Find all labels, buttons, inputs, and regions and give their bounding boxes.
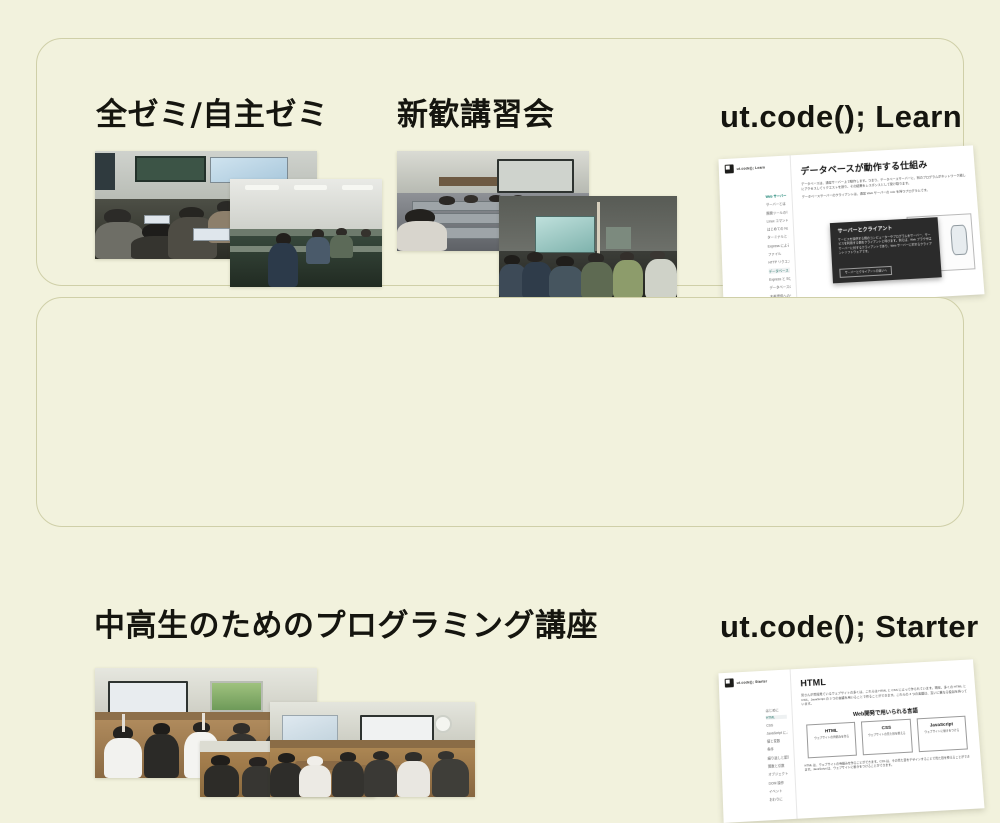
nav-item[interactable]: はじめに bbox=[766, 707, 787, 713]
language-desc: ウェブサイトに動きをつける bbox=[920, 729, 963, 735]
photo-chuko-group-work-right bbox=[270, 702, 475, 797]
nav-item-active[interactable]: データベース bbox=[769, 267, 791, 273]
nav-item[interactable]: DOM 操作 bbox=[769, 779, 791, 785]
deck-learn-body: データベースは、通常サーバー上で動作します。つまり、データベースサーバーに、別の… bbox=[801, 173, 968, 200]
nav-item[interactable]: Express と SQL の接続 bbox=[769, 276, 791, 282]
nav-item[interactable]: Express による Web サーバー構築 bbox=[768, 242, 790, 248]
activities-card-row-1: 全ゼミ/自主ゼミ 新歓講習会 ut.code(); Learn ut.code(… bbox=[36, 38, 964, 286]
language-box: HTML ウェブサイトの骨組みを作る bbox=[806, 722, 857, 759]
deck-learn-content: データベースが動作する仕組み データベースは、通常サーバー上で動作します。つまり… bbox=[790, 145, 985, 304]
deck-ut-code-starter: ut.code(); Starter はじめに HTML CSS JavaScr… bbox=[719, 659, 985, 823]
nav-item[interactable]: HTTP リクエストとレスポンス bbox=[768, 259, 790, 265]
deck-learn-logo: ut.code(); Learn bbox=[725, 163, 766, 174]
activities-card-row-2: 中高生のためのプログラミング講座 ut.code(); Starter ut.c… bbox=[36, 297, 964, 527]
slide-root: 全ゼミ/自主ゼミ 新歓講習会 ut.code(); Learn ut.code(… bbox=[0, 0, 1000, 563]
language-name: CSS bbox=[865, 724, 908, 731]
heading-zemi: 全ゼミ/自主ゼミ bbox=[96, 100, 328, 131]
nav-item[interactable]: データベースのバックアップ bbox=[769, 284, 791, 290]
language-name: JavaScript bbox=[920, 721, 963, 728]
nav-item[interactable]: Web サーバーと静的サイトの公開 bbox=[766, 193, 787, 199]
deck-starter-nav: はじめに HTML CSS JavaScript にふれてみる 値と変数 条件 … bbox=[726, 707, 791, 808]
photo-shinkan-projector-room bbox=[499, 196, 677, 298]
nav-item[interactable]: 条件 bbox=[767, 746, 788, 752]
deck-learn-overlay-card: サーバーとクライアント サービスを提供する側のコンピューターやプログラムをサーバ… bbox=[830, 217, 942, 283]
ut-code-logo-icon bbox=[725, 678, 734, 687]
photo-zemi-lecture-hall-seats bbox=[230, 179, 382, 287]
deck-starter-body: 皆さんが普段見ているウェブサイトの多くは、これらは HTML と CSS によっ… bbox=[801, 684, 968, 707]
heading-shinkan: 新歓講習会 bbox=[397, 100, 555, 131]
nav-item[interactable]: サーバーとは bbox=[766, 201, 787, 207]
nav-item[interactable]: おわりに bbox=[769, 796, 791, 802]
overlay-body: サービスを提供する側のコンピューターやプログラムをサーバー、サービスを利用する側… bbox=[838, 232, 933, 255]
deck-learn-nav: Web サーバーと静的サイトの公開 サーバーとは 開発ツールのセットアップ (W… bbox=[726, 193, 792, 305]
deck-starter-logo-text: ut.code(); Starter bbox=[737, 679, 768, 685]
heading-ut-code-starter: ut.code(); Starter bbox=[720, 611, 979, 642]
deck-learn-sidebar: ut.code(); Learn Web サーバーと静的サイトの公開 サーバーと… bbox=[719, 155, 798, 309]
paragraph: 皆さんが普段見ているウェブサイトの多くは、これらは HTML と CSS によっ… bbox=[801, 684, 968, 707]
language-box-row: HTML ウェブサイトの骨組みを作る CSS ウェブサイトの見た目を整える Ja… bbox=[802, 715, 971, 758]
nav-item[interactable]: 値と変数 bbox=[767, 738, 788, 744]
nav-item[interactable]: Linux コマンド bbox=[767, 217, 788, 223]
deck-ut-code-learn: ut.code(); Learn Web サーバーと静的サイトの公開 サーバーと… bbox=[719, 145, 985, 309]
language-desc: ウェブサイトの骨組みを作る bbox=[810, 735, 853, 741]
heading-chuko-programming-course: 中高生のためのプログラミング講座 bbox=[94, 611, 598, 642]
language-box: CSS ウェブサイトの見た目を整える bbox=[861, 719, 912, 756]
language-name: HTML bbox=[810, 727, 853, 734]
overlay-button[interactable]: サーバーとクライアントの違いへ bbox=[840, 265, 893, 277]
nav-item[interactable]: JavaScript にふれてみる bbox=[766, 729, 787, 735]
nav-item[interactable]: ターミナルと npm bbox=[767, 234, 788, 240]
nav-item[interactable]: 開発ツールのセットアップ (Windows) bbox=[766, 209, 787, 215]
nav-item-active[interactable]: HTML bbox=[766, 715, 787, 720]
deck-learn-logo-text: ut.code(); Learn bbox=[737, 165, 766, 170]
deck-starter-sidebar: ut.code(); Starter はじめに HTML CSS JavaScr… bbox=[719, 669, 798, 823]
language-desc: ウェブサイトの見た目を整える bbox=[865, 732, 908, 738]
nav-item[interactable]: オブジェクト bbox=[768, 771, 790, 777]
ut-code-logo-icon bbox=[725, 164, 734, 173]
nav-item[interactable]: はじめての Node.js bbox=[767, 226, 788, 232]
deck-starter-content: HTML 皆さんが普段見ているウェブサイトの多くは、これらは HTML と CS… bbox=[790, 659, 985, 818]
nav-item[interactable]: イベント bbox=[769, 788, 791, 794]
nav-item[interactable]: 繰り返しと配列 bbox=[768, 754, 789, 760]
deck-starter-logo: ut.code(); Starter bbox=[725, 677, 768, 688]
heading-ut-code-learn: ut.code(); Learn bbox=[720, 101, 962, 132]
nav-item[interactable]: CSS bbox=[766, 722, 787, 727]
nav-item[interactable]: ファイル bbox=[768, 251, 790, 257]
nav-item[interactable]: 関数と引数 bbox=[768, 762, 790, 768]
